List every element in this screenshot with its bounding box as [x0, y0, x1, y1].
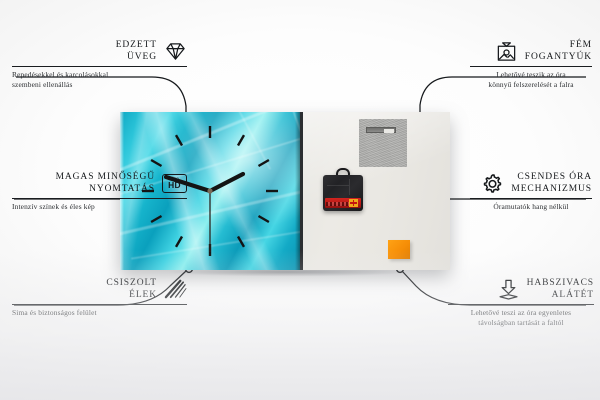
feature-hooks: FÉM FOGANTYÚK Lehetővé teszik az óra kön… — [470, 40, 592, 89]
diamond-icon — [164, 40, 187, 63]
ultra-hd-icon: ultra HD — [162, 174, 187, 193]
feature-glass-description: Repedésekkel és karcolásokkal szembeni e… — [12, 70, 187, 89]
hour-hand — [210, 174, 243, 191]
feature-foam-title: HABSZIVACS ALÁTÉT — [527, 278, 594, 301]
feature-glass: EDZETT ÜVEG Repedésekkel és karcolásokka… — [12, 40, 187, 89]
battery — [325, 198, 361, 208]
feature-print: MAGAS MINŐSÉGŰ NYOMTATÁS ultra HD Intenz… — [12, 172, 187, 212]
clock-back-panel — [300, 112, 450, 270]
gear-icon — [481, 172, 504, 195]
feature-edges-description: Sima és biztonságos felület — [12, 308, 187, 318]
feature-print-rule — [12, 198, 187, 199]
feature-hooks-title: FÉM FOGANTYÚK — [525, 40, 592, 63]
feature-glass-rule — [12, 66, 187, 67]
polished-edges-icon — [164, 278, 187, 301]
feature-print-description: Intenzív színek és éles kép — [12, 202, 187, 212]
feature-mech-title: CSENDES ÓRA MECHANIZMUS — [511, 172, 592, 195]
foam-pad — [388, 240, 410, 259]
hands-hub — [207, 188, 212, 193]
metal-hanger-bracket — [359, 119, 407, 167]
feature-hooks-description: Lehetővé teszik az óra könnyű felszerelé… — [470, 70, 592, 89]
clock-mechanism — [323, 169, 363, 211]
feature-mech-rule — [470, 198, 592, 199]
picture-hanger-icon — [495, 40, 518, 63]
feature-edges: CSISZOLT ÉLEK Sima és biztonságos felüle… — [12, 278, 187, 318]
feature-hooks-rule — [470, 66, 592, 67]
feature-foam: HABSZIVACS ALÁTÉT Lehetővé teszi az óra … — [448, 278, 594, 327]
feature-foam-rule — [448, 304, 594, 305]
foam-pad-icon — [497, 278, 520, 301]
battery-plus-terminal — [349, 199, 358, 207]
feature-print-title: MAGAS MINŐSÉGŰ NYOMTATÁS — [56, 172, 155, 195]
feature-foam-description: Lehetővé teszi az óra egyenletes távolsá… — [448, 308, 594, 327]
feature-edges-rule — [12, 304, 187, 305]
infographic-canvas: EDZETT ÜVEG Repedésekkel és karcolásokka… — [0, 0, 600, 400]
feature-edges-title: CSISZOLT ÉLEK — [106, 278, 157, 301]
feature-mech-description: Óramutatók hang nélkül — [470, 202, 592, 212]
feature-mech: CSENDES ÓRA MECHANIZMUS Óramutatók hang … — [470, 172, 592, 212]
feature-glass-title: EDZETT ÜVEG — [116, 40, 157, 63]
